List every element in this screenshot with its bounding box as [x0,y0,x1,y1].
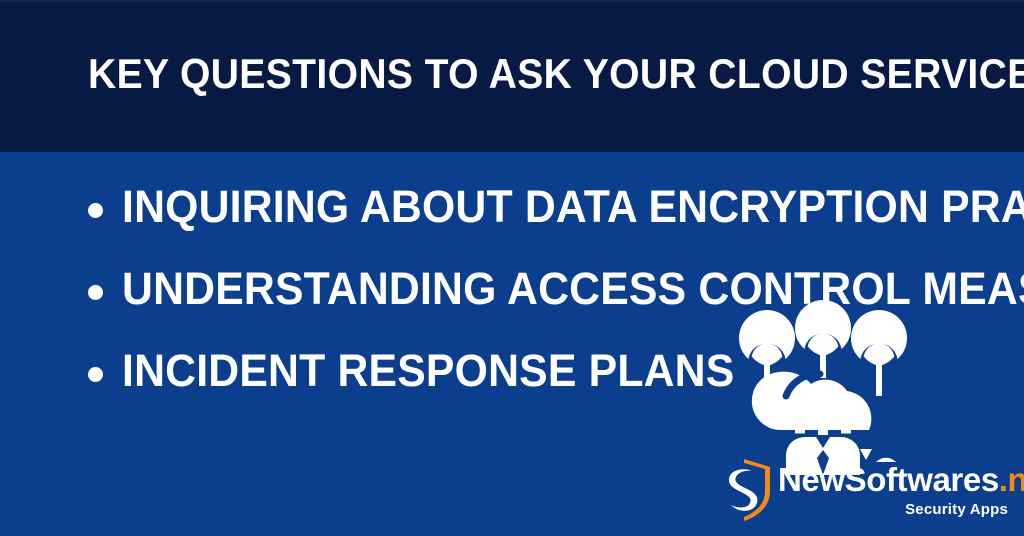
list-item: Inquiring About Data Encryption Practice… [80,182,1020,264]
logo-brand-primary: NewSoftwares [778,461,999,498]
logo-tagline: Security Apps [905,500,1008,520]
bullet-dot-icon [88,203,103,218]
brand-logo: NewSoftwares.net Security Apps [714,456,1014,528]
infographic-canvas: Key Questions To Ask Your Cloud Service … [0,0,1024,536]
bullet-dot-icon [88,367,103,382]
header-band: Key Questions To Ask Your Cloud Service … [0,0,1024,152]
page-title: Key Questions To Ask Your Cloud Service … [88,52,888,96]
header-top-hairline [0,0,1024,2]
bullet-dot-icon [88,285,103,300]
logo-brand-suffix: .net [999,461,1024,498]
shield-s-icon [714,458,772,522]
list-item-label: Inquiring About Data Encryption Practice… [122,182,975,232]
logo-wordmark: NewSoftwares.net [778,460,1014,500]
